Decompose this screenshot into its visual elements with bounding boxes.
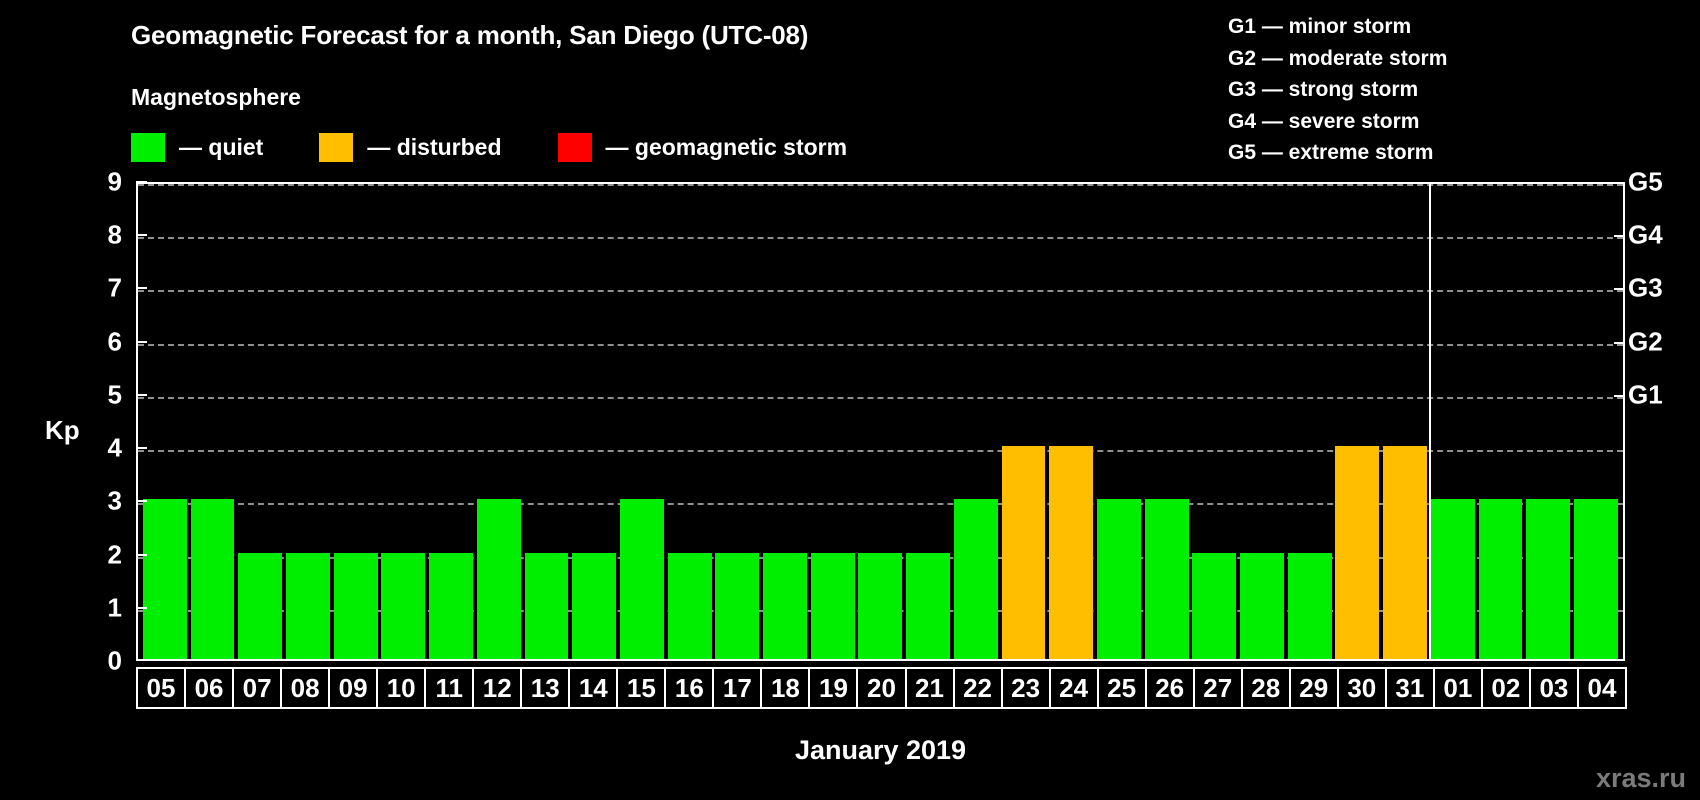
bar-day-10	[381, 553, 425, 659]
bar-day-16	[668, 553, 712, 659]
bar-slot	[523, 184, 571, 659]
bar-day-13	[525, 553, 569, 659]
bar-slot	[380, 184, 428, 659]
bar-slot	[1143, 184, 1191, 659]
bar-slot	[570, 184, 618, 659]
day-label-15: 15	[616, 667, 666, 709]
bar-slot	[332, 184, 380, 659]
bar-slot	[761, 184, 809, 659]
bar-day-21	[906, 553, 950, 659]
bar-day-07	[238, 553, 282, 659]
legend-item-disturbed: — disturbed	[319, 133, 501, 162]
day-label-16: 16	[664, 667, 714, 709]
legend: — quiet— disturbed— geomagnetic storm	[131, 133, 903, 162]
bar-day-01	[1431, 499, 1475, 659]
bar-slot	[952, 184, 1000, 659]
day-label-02: 02	[1481, 667, 1531, 709]
day-label-04: 04	[1577, 667, 1627, 709]
day-label-23: 23	[1001, 667, 1051, 709]
y-tick-0: 0	[108, 646, 122, 677]
day-label-21: 21	[905, 667, 955, 709]
bar-day-11	[429, 553, 473, 659]
y-tick-4: 4	[108, 433, 122, 464]
bar-day-25	[1097, 499, 1141, 659]
bar-slot	[1190, 184, 1238, 659]
y-tick-1: 1	[108, 592, 122, 623]
g-tickmark-g3	[1614, 288, 1625, 290]
bar-day-24	[1049, 446, 1093, 659]
bar-slot	[284, 184, 332, 659]
day-label-01: 01	[1433, 667, 1483, 709]
storm-scale-g2: G2 — moderate storm	[1228, 43, 1447, 75]
day-label-29: 29	[1289, 667, 1339, 709]
bar-slot	[904, 184, 952, 659]
bar-slot	[1381, 184, 1429, 659]
bar-slot	[618, 184, 666, 659]
bar-slot	[141, 184, 189, 659]
y-tickmark-8	[136, 234, 147, 236]
bar-slot	[1095, 184, 1143, 659]
y-tick-5: 5	[108, 379, 122, 410]
chart-plot-area	[136, 182, 1625, 661]
g-tick-g2: G2	[1628, 326, 1663, 357]
magnetosphere-label: Magnetosphere	[131, 84, 301, 111]
month-divider	[1429, 184, 1431, 659]
bar-day-17	[715, 553, 759, 659]
legend-item-quiet: — quiet	[131, 133, 263, 162]
bar-day-09	[334, 553, 378, 659]
x-axis-day-labels: 0506070809101112131415161718192021222324…	[136, 667, 1625, 709]
day-label-22: 22	[953, 667, 1003, 709]
bar-day-28	[1240, 553, 1284, 659]
g-tickmark-g1	[1614, 395, 1625, 397]
bar-day-29	[1288, 553, 1332, 659]
page-title: Geomagnetic Forecast for a month, San Di…	[131, 20, 808, 51]
bar-day-22	[954, 499, 998, 659]
bar-slot	[713, 184, 761, 659]
bar-slot	[1047, 184, 1095, 659]
bar-slot	[857, 184, 905, 659]
g-tickmark-g5	[1614, 182, 1625, 184]
day-label-30: 30	[1337, 667, 1387, 709]
bar-day-31	[1383, 446, 1427, 659]
bar-day-12	[477, 499, 521, 659]
y-tick-9: 9	[108, 167, 122, 198]
day-label-17: 17	[712, 667, 762, 709]
bar-day-27	[1192, 553, 1236, 659]
bar-slot	[666, 184, 714, 659]
bar-day-14	[572, 553, 616, 659]
bar-day-06	[191, 499, 235, 659]
bar-day-18	[763, 553, 807, 659]
storm-scale-g1: G1 — minor storm	[1228, 11, 1447, 43]
g-tickmark-g4	[1614, 235, 1625, 237]
legend-label-storm: — geomagnetic storm	[606, 134, 848, 161]
g-tickmark-g2	[1614, 342, 1625, 344]
g-tick-g4: G4	[1628, 220, 1663, 251]
y-tick-6: 6	[108, 326, 122, 357]
day-label-10: 10	[376, 667, 426, 709]
legend-label-disturbed: — disturbed	[367, 134, 501, 161]
day-label-31: 31	[1385, 667, 1435, 709]
day-label-07: 07	[232, 667, 282, 709]
day-label-13: 13	[520, 667, 570, 709]
y-tickmark-6	[136, 341, 147, 343]
bar-slot	[475, 184, 523, 659]
bar-slot	[1429, 184, 1477, 659]
bar-slot	[1334, 184, 1382, 659]
day-label-18: 18	[760, 667, 810, 709]
bar-slot	[1238, 184, 1286, 659]
bar-day-20	[858, 553, 902, 659]
bar-day-03	[1526, 499, 1570, 659]
bar-day-05	[143, 499, 187, 659]
y-tickmark-5	[136, 394, 147, 396]
g-tick-g5: G5	[1628, 167, 1663, 198]
day-label-11: 11	[424, 667, 474, 709]
bar-slot	[427, 184, 475, 659]
watermark: xras.ru	[1596, 763, 1686, 794]
storm-scale-g5: G5 — extreme storm	[1228, 137, 1447, 169]
bar-day-23	[1002, 446, 1046, 659]
bar-slot	[1000, 184, 1048, 659]
day-label-25: 25	[1097, 667, 1147, 709]
legend-swatch-storm	[558, 133, 592, 162]
bar-day-26	[1145, 499, 1189, 659]
day-label-20: 20	[856, 667, 906, 709]
day-label-09: 09	[328, 667, 378, 709]
day-label-12: 12	[472, 667, 522, 709]
y-tickmark-4	[136, 447, 147, 449]
x-axis-label: January 2019	[136, 735, 1625, 766]
day-label-14: 14	[568, 667, 618, 709]
bar-slot	[236, 184, 284, 659]
day-label-03: 03	[1529, 667, 1579, 709]
y-tickmark-7	[136, 287, 147, 289]
y-tickmark-1	[136, 607, 147, 609]
y-tick-8: 8	[108, 220, 122, 251]
legend-swatch-quiet	[131, 133, 165, 162]
bar-slot	[1286, 184, 1334, 659]
legend-swatch-disturbed	[319, 133, 353, 162]
bar-day-08	[286, 553, 330, 659]
y-tick-3: 3	[108, 486, 122, 517]
y-axis-ticks: 9876543210	[60, 182, 122, 661]
bar-day-15	[620, 499, 664, 659]
day-label-27: 27	[1193, 667, 1243, 709]
bar-slot	[1524, 184, 1572, 659]
day-label-26: 26	[1145, 667, 1195, 709]
day-label-19: 19	[808, 667, 858, 709]
bar-slot	[809, 184, 857, 659]
day-label-05: 05	[136, 667, 186, 709]
storm-scale-g3: G3 — strong storm	[1228, 74, 1447, 106]
y-tickmark-2	[136, 554, 147, 556]
bar-slot	[1477, 184, 1525, 659]
legend-item-storm: — geomagnetic storm	[558, 133, 848, 162]
y-tickmark-3	[136, 500, 147, 502]
g-tick-g3: G3	[1628, 273, 1663, 304]
day-label-24: 24	[1049, 667, 1099, 709]
g-scale-ticks: G1G2G3G4G5	[1628, 182, 1700, 661]
storm-scale-g4: G4 — severe storm	[1228, 106, 1447, 138]
y-tick-7: 7	[108, 273, 122, 304]
bar-slot	[189, 184, 237, 659]
day-label-08: 08	[280, 667, 330, 709]
legend-label-quiet: — quiet	[179, 134, 263, 161]
storm-scale-key: G1 — minor stormG2 — moderate stormG3 — …	[1228, 11, 1447, 169]
y-tickmark-9	[136, 181, 147, 183]
bar-day-02	[1479, 499, 1523, 659]
bar-day-19	[811, 553, 855, 659]
bar-day-30	[1335, 446, 1379, 659]
y-tick-2: 2	[108, 539, 122, 570]
day-label-28: 28	[1241, 667, 1291, 709]
g-tick-g1: G1	[1628, 379, 1663, 410]
bar-slot	[1572, 184, 1620, 659]
bar-series	[138, 184, 1623, 659]
bar-day-04	[1574, 499, 1618, 659]
day-label-06: 06	[184, 667, 234, 709]
